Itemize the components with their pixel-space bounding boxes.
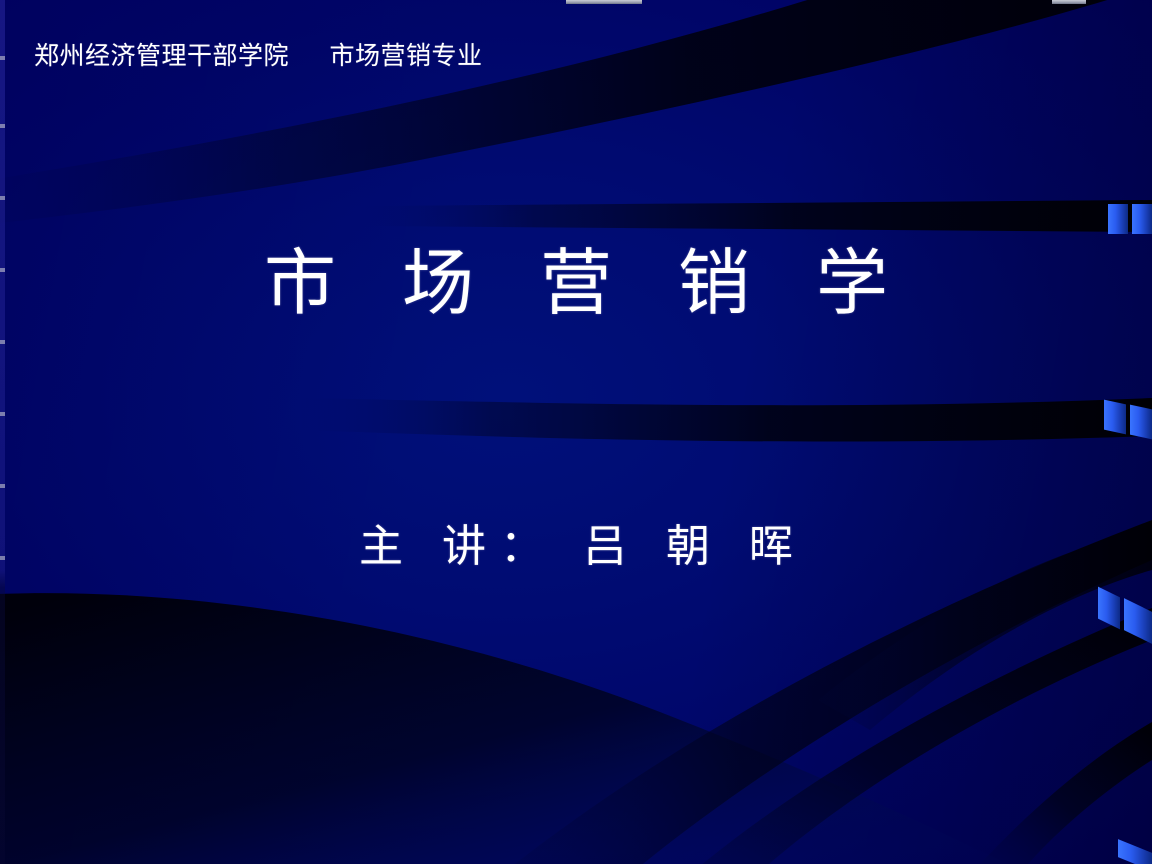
background-swoosh-graphics bbox=[0, 0, 1152, 864]
clipped-window-chrome-left bbox=[566, 0, 642, 4]
rail-tick bbox=[0, 124, 5, 128]
left-edge-rail bbox=[0, 0, 5, 864]
rail-tick bbox=[0, 340, 5, 344]
accent-block-right-mid-2 bbox=[1130, 405, 1152, 440]
accent-block-right-mid-1 bbox=[1104, 400, 1126, 435]
accent-block-right-upper-1 bbox=[1108, 204, 1128, 234]
slide-title: 市 场 营 销 学 bbox=[0, 238, 1152, 330]
presentation-slide: 郑州经济管理干部学院 市场营销专业 市 场 营 销 学 主 讲： 吕 朝 晖 bbox=[0, 0, 1152, 864]
accent-block-right-upper-2 bbox=[1132, 204, 1152, 234]
clipped-window-chrome-right bbox=[1052, 0, 1086, 4]
rail-tick bbox=[0, 412, 5, 416]
rail-tick bbox=[0, 484, 5, 488]
rail-tick bbox=[0, 56, 5, 60]
rail-tick bbox=[0, 196, 5, 200]
slide-subtitle-presenter: 主 讲： 吕 朝 晖 bbox=[0, 516, 1152, 578]
slide-header-text: 郑州经济管理干部学院 市场营销专业 bbox=[34, 40, 483, 74]
